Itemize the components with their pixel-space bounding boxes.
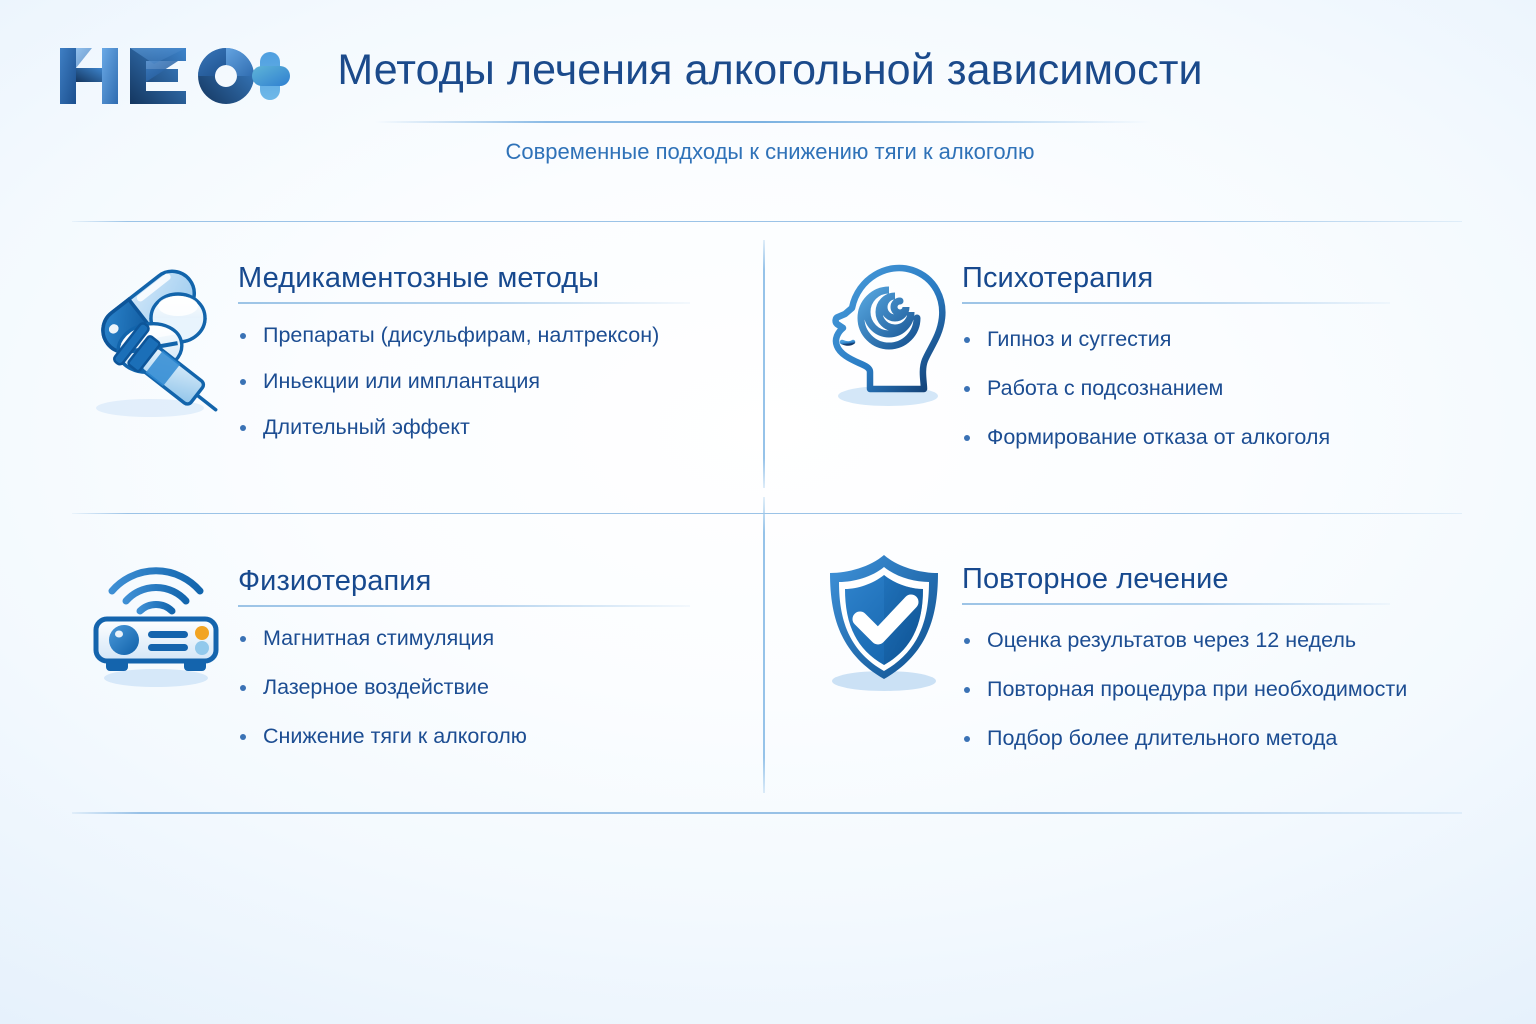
list-item: Гипноз и суггестия xyxy=(962,326,1452,353)
divider-vertical-bottom xyxy=(763,497,765,793)
divider-vertical-top xyxy=(763,240,765,488)
divider-top xyxy=(72,221,1462,222)
bullet-list: Препараты (дисульфирам, налтрексон) Инье… xyxy=(238,322,728,441)
bullet-list: Гипноз и суггестия Работа с подсознанием… xyxy=(962,326,1452,451)
list-item: Длительный эффект xyxy=(238,414,728,441)
title-divider xyxy=(375,121,1151,123)
card-physiotherapy: Физиотерапия Магнитная стимуляция Лазерн… xyxy=(78,545,728,772)
card-repeat-treatment: Повторное лечение Оценка результатов чер… xyxy=(812,545,1452,774)
card-medication: Медикаментозные методы Препараты (дисуль… xyxy=(78,252,728,441)
card-title-divider xyxy=(962,302,1390,304)
card-body: Психотерапия Гипноз и суггестия Работа с… xyxy=(962,252,1452,473)
list-item: Повторная процедура при необходимости xyxy=(962,676,1452,703)
card-body: Повторное лечение Оценка результатов чер… xyxy=(962,545,1452,774)
divider-bottom xyxy=(72,812,1462,814)
card-psychotherapy: Психотерапия Гипноз и суггестия Работа с… xyxy=(812,252,1452,473)
neo-plus-logo-icon xyxy=(58,42,290,110)
pills-syringe-icon xyxy=(78,252,238,421)
card-title: Психотерапия xyxy=(962,262,1452,294)
list-item: Снижение тяги к алкоголю xyxy=(238,723,728,750)
list-item: Подбор более длительного метода xyxy=(962,725,1452,752)
bullet-list: Магнитная стимуляция Лазерное воздействи… xyxy=(238,625,728,750)
head-spiral-icon xyxy=(812,252,962,421)
list-item: Работа с подсознанием xyxy=(962,375,1452,402)
shield-check-icon xyxy=(812,545,962,712)
page-subtitle: Современные подходы к снижению тяги к ал… xyxy=(300,139,1240,165)
page-title: Методы лечения алкогольной зависимости xyxy=(300,46,1240,95)
divider-middle xyxy=(72,513,1462,514)
bullet-list: Оценка результатов через 12 недель Повто… xyxy=(962,627,1452,752)
card-title: Медикаментозные методы xyxy=(238,262,728,294)
list-item: Магнитная стимуляция xyxy=(238,625,728,652)
card-body: Физиотерапия Магнитная стимуляция Лазерн… xyxy=(238,545,728,772)
list-item: Формирование отказа от алкоголя xyxy=(962,424,1452,451)
list-item: Иньекции или имплантация xyxy=(238,368,728,395)
card-title-divider xyxy=(238,302,690,304)
header: Методы лечения алкогольной зависимости С… xyxy=(0,0,1536,200)
card-title-divider xyxy=(962,603,1390,605)
card-title: Повторное лечение xyxy=(962,563,1452,595)
infographic-page: Методы лечения алкогольной зависимости С… xyxy=(0,0,1536,1024)
list-item: Препараты (дисульфирам, налтрексон) xyxy=(238,322,728,349)
card-title: Физиотерапия xyxy=(238,565,728,597)
list-item: Оценка результатов через 12 недель xyxy=(962,627,1452,654)
card-title-divider xyxy=(238,605,690,607)
list-item: Лазерное воздействие xyxy=(238,674,728,701)
card-body: Медикаментозные методы Препараты (дисуль… xyxy=(238,252,728,441)
physio-device-waves-icon xyxy=(78,545,238,710)
